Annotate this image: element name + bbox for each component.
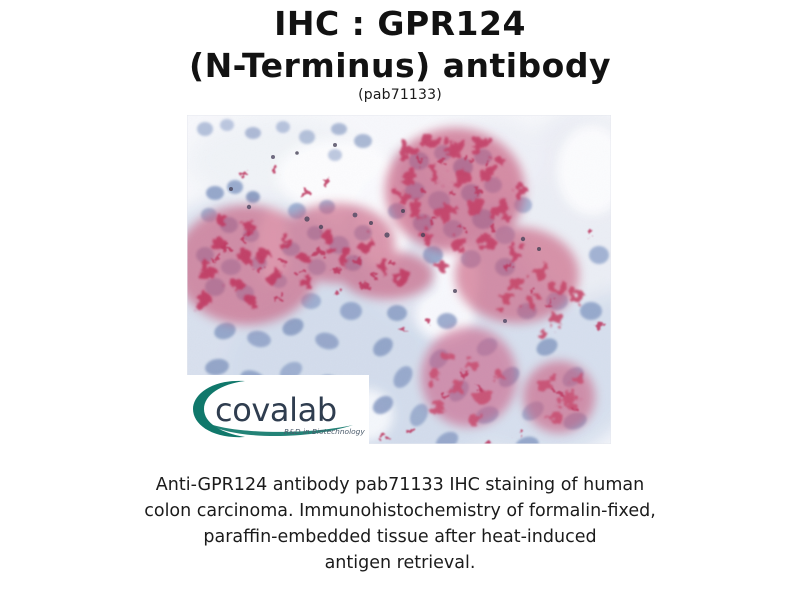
micrograph-container: covalab R&D in Biotechnology	[187, 115, 611, 444]
figure-header: IHC : GPR124 (N-Terminus) antibody (pab7…	[0, 0, 800, 103]
covalab-logo: covalab R&D in Biotechnology	[187, 375, 369, 444]
caption-line-1: Anti-GPR124 antibody pab71133 IHC staini…	[0, 472, 800, 498]
figure-title-line-2: (N-Terminus) antibody	[0, 46, 800, 86]
covalab-wordmark: covalab	[215, 391, 337, 429]
caption-line-4: antigen retrieval.	[0, 550, 800, 576]
figure-title-line-1: IHC : GPR124	[0, 4, 800, 44]
catalog-code: (pab71133)	[0, 87, 800, 103]
figure-caption: Anti-GPR124 antibody pab71133 IHC staini…	[0, 472, 800, 576]
covalab-tagline: R&D in Biotechnology	[284, 427, 365, 436]
caption-line-3: paraffin-embedded tissue after heat-indu…	[0, 524, 800, 550]
caption-line-2: colon carcinoma. Immunohistochemistry of…	[0, 498, 800, 524]
